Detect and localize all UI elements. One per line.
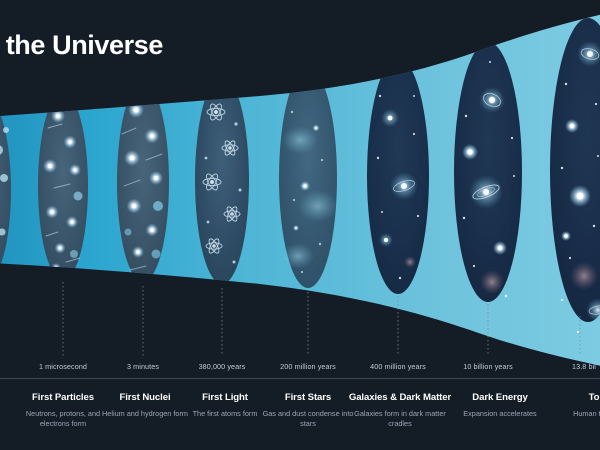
tick-label-400-million-years: 400 million years [370,362,426,371]
stage-caption-galaxies-dark-matter: Galaxies & Dark Matter Galaxies form in … [348,392,452,430]
tick-label-1-microsecond: 1 microsecond [39,362,87,371]
tick-label-380000-years: 380,000 years [199,362,246,371]
stage-title-today: To [542,392,600,404]
timeline-axis [0,378,600,379]
page-title: ory of the Universe [0,30,163,61]
epoch-ellipse-dark-energy [454,42,522,302]
tick-label-200-million-years: 200 million years [280,362,336,371]
stage-title-first-stars: First Stars [256,392,360,404]
stage-title-dark-energy: Dark Energy [448,392,552,404]
stage-description-dark-energy: Expansion accelerates [448,409,552,420]
stage-description-first-stars: Gas and dust condense into stars [256,409,360,430]
stage-caption-dark-energy: Dark Energy Expansion accelerates [448,392,552,419]
tick-label-10-billion-years: 10 billion years [463,362,513,371]
stage-title-galaxies-dark-matter: Galaxies & Dark Matter [348,392,452,404]
epoch-ellipse-galaxies-dark-matter [367,58,429,294]
tick-label-13-8-billion-years: 13.8 bil [572,362,596,371]
tick-label-3-minutes: 3 minutes [127,362,159,371]
stage-description-galaxies-dark-matter: Galaxies form in dark matter cradles [348,409,452,430]
stage-caption-today: To Human the u [542,392,600,419]
epoch-ellipse-first-particles [38,92,88,280]
stage-description-today: Human the u [542,409,600,420]
infographic-canvas: ory of the Universe [0,0,600,450]
epoch-ellipse-first-nuclei [117,82,169,282]
stage-caption-first-stars: First Stars Gas and dust condense into s… [256,392,360,430]
epoch-ellipse-first-light [195,76,249,284]
